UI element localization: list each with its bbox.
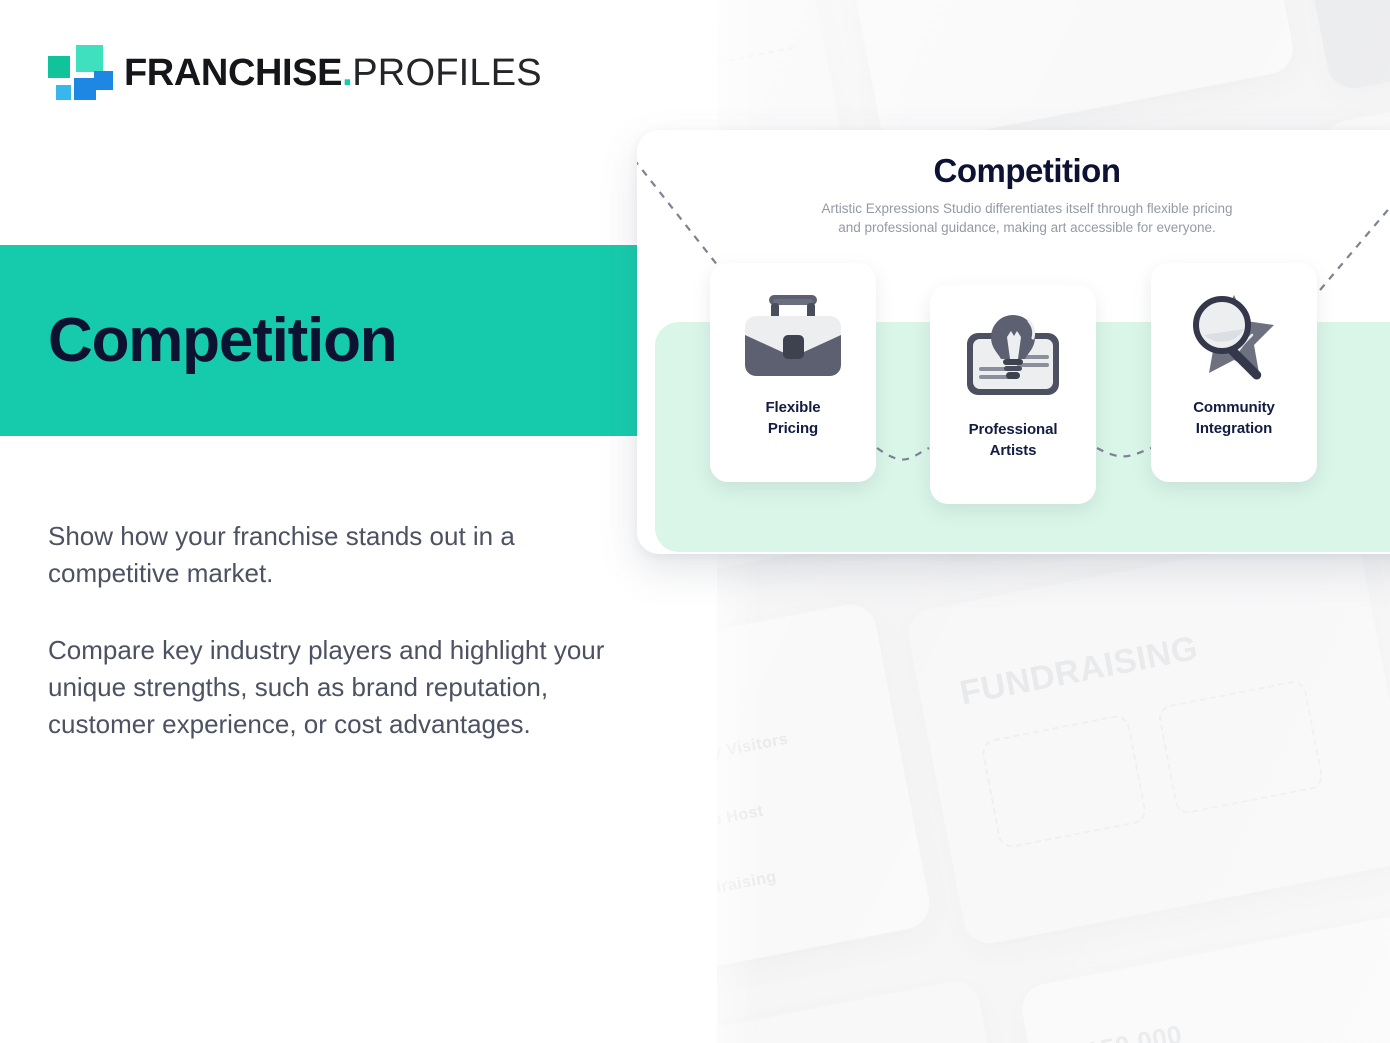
briefcase-icon: [733, 283, 853, 391]
feature-card-row: FlexiblePricing ProfessionalArtists: [637, 130, 1390, 554]
squares-logo-mark-icon: [48, 45, 110, 100]
bg-slide: [830, 0, 1298, 149]
brand-logo: FRANCHISE.PROFILES: [48, 45, 542, 100]
brand-name-bold: FRANCHISE: [124, 52, 342, 94]
brand-name-thin: PROFILES: [352, 52, 542, 94]
feature-card-label: ProfessionalArtists: [969, 419, 1058, 461]
bg-slide: [717, 977, 1032, 1043]
description-paragraph-1: Show how your franchise stands out in a …: [48, 518, 623, 592]
description-paragraph-2: Compare key industry players and highlig…: [48, 632, 623, 743]
lightbulb-certificate-icon: [953, 305, 1073, 413]
feature-card-community-integration[interactable]: CommunityIntegration: [1151, 263, 1317, 482]
brand-wordmark: FRANCHISE.PROFILES: [124, 54, 542, 92]
page-title-banner: Competition: [0, 245, 637, 436]
feature-card-label: FlexiblePricing: [765, 397, 820, 439]
feature-card-label: CommunityIntegration: [1193, 397, 1275, 439]
feature-card-professional-artists[interactable]: ProfessionalArtists: [930, 285, 1096, 504]
brand-name-dot: .: [342, 52, 352, 94]
magnifier-star-icon: [1174, 283, 1294, 391]
feature-card-flexible-pricing[interactable]: FlexiblePricing: [710, 263, 876, 482]
page-title: Competition: [48, 310, 396, 372]
description-block: Show how your franchise stands out in a …: [48, 518, 623, 743]
bg-slide: [904, 526, 1390, 948]
slide-preview-card[interactable]: Competition Artistic Expressions Studio …: [637, 130, 1390, 554]
